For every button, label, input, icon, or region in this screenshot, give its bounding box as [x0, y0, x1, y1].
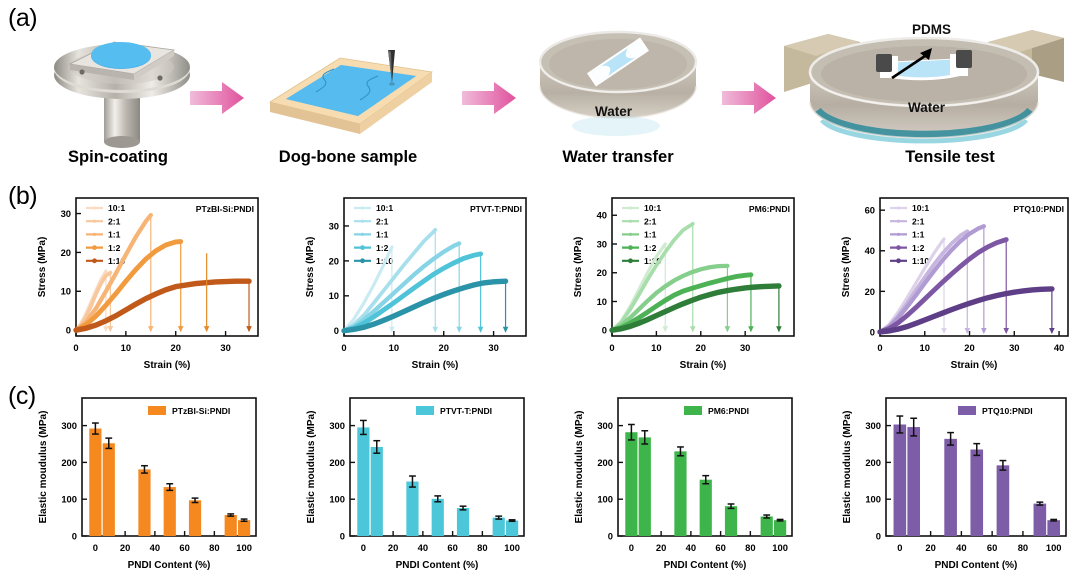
bar [225, 515, 237, 536]
panel-letter-a: (a) [8, 4, 37, 33]
svg-text:40: 40 [686, 542, 696, 553]
bar [493, 518, 505, 536]
bar [138, 469, 150, 536]
svg-text:30: 30 [220, 342, 230, 353]
stress-strain-chart-ptzbi-si: 01020300102030Strain (%)Stress (MPa)PTzB… [34, 190, 264, 378]
svg-text:1:1: 1:1 [912, 230, 925, 240]
svg-text:300: 300 [865, 420, 881, 431]
stress-strain-chart-pm6: 0102030010203040Strain (%)Stress (MPa)PM… [570, 190, 800, 378]
svg-text:30: 30 [329, 220, 339, 231]
inline-label-water-transfer: Water [595, 104, 632, 119]
svg-text:1:1: 1:1 [376, 230, 389, 240]
svg-text:300: 300 [61, 420, 77, 431]
svg-text:PNDI Content (%): PNDI Content (%) [664, 560, 747, 571]
svg-text:20: 20 [925, 542, 935, 553]
svg-text:20: 20 [439, 342, 449, 353]
svg-text:100: 100 [772, 542, 788, 553]
stage-label-water-transfer: Water transfer [518, 148, 718, 167]
petri-dish-icon [528, 14, 708, 152]
svg-text:60: 60 [715, 542, 725, 553]
svg-text:0: 0 [334, 325, 339, 336]
bar [189, 500, 201, 536]
svg-text:1:1: 1:1 [644, 230, 657, 240]
svg-text:0: 0 [897, 542, 902, 553]
svg-text:PM6:PNDI: PM6:PNDI [749, 204, 790, 214]
svg-text:100: 100 [504, 542, 520, 553]
svg-text:Strain (%): Strain (%) [144, 360, 191, 371]
svg-text:100: 100 [1046, 542, 1062, 553]
svg-text:0: 0 [361, 542, 366, 553]
bar [997, 465, 1010, 536]
bar [406, 482, 418, 536]
svg-text:60: 60 [447, 542, 457, 553]
svg-text:10:1: 10:1 [376, 203, 393, 213]
svg-text:20: 20 [61, 247, 71, 258]
svg-text:0: 0 [66, 325, 71, 336]
legend-swatch [416, 406, 434, 415]
svg-text:20: 20 [120, 542, 130, 553]
panel-letter-b: (b) [8, 182, 37, 211]
svg-text:0: 0 [870, 326, 875, 337]
svg-text:40: 40 [1054, 342, 1064, 353]
arrow-right-icon-3 [720, 80, 780, 116]
svg-text:40: 40 [150, 542, 160, 553]
svg-text:PTzBI-Si:PNDI: PTzBI-Si:PNDI [172, 406, 230, 416]
svg-text:0: 0 [609, 342, 614, 353]
bar [103, 443, 115, 536]
stage-label-tensile-test: Tensile test [860, 148, 1040, 167]
svg-text:10:1: 10:1 [912, 203, 929, 213]
stress-strain-chart-ptvt-t: 01020300102030Strain (%)Stress (MPa)PTVT… [302, 190, 532, 378]
svg-text:100: 100 [329, 494, 345, 505]
svg-text:2:1: 2:1 [912, 216, 925, 226]
svg-text:Elastic moudulus (MPa): Elastic moudulus (MPa) [38, 411, 49, 524]
svg-text:20: 20 [597, 267, 607, 278]
svg-text:1:2: 1:2 [376, 243, 389, 253]
stage-label-spin-coating: Spin-coating [18, 148, 218, 167]
plot-frame [76, 198, 258, 336]
svg-text:Stress (MPa): Stress (MPa) [841, 237, 852, 298]
svg-text:2:1: 2:1 [644, 216, 657, 226]
modulus-bar-chart-ptvt-t: 0204060801000100200300PNDI Content (%)El… [302, 390, 532, 578]
svg-text:Stress (MPa): Stress (MPa) [573, 237, 584, 298]
svg-text:200: 200 [597, 457, 613, 468]
svg-text:PNDI Content (%): PNDI Content (%) [128, 560, 211, 571]
svg-text:1:2: 1:2 [108, 243, 121, 253]
svg-text:0: 0 [877, 342, 882, 353]
svg-text:300: 300 [597, 420, 613, 431]
svg-text:300: 300 [329, 420, 345, 431]
bar [970, 450, 983, 536]
panel-letter-c: (c) [8, 382, 36, 411]
svg-text:2:1: 2:1 [108, 216, 121, 226]
svg-text:20: 20 [696, 342, 706, 353]
stress-strain-chart-ptq10: 0102030400204060Strain (%)Stress (MPa)PT… [838, 190, 1074, 378]
chart-svg-c1: 0204060801000100200300PNDI Content (%)El… [302, 390, 532, 578]
svg-text:30: 30 [488, 342, 498, 353]
svg-text:200: 200 [61, 457, 77, 468]
svg-text:10:1: 10:1 [644, 203, 661, 213]
svg-text:Elastic moudulus (MPa): Elastic moudulus (MPa) [842, 411, 853, 524]
bar [1034, 504, 1047, 536]
svg-text:20: 20 [964, 342, 974, 353]
bar [457, 508, 469, 536]
arrow-right-icon-1 [188, 80, 248, 116]
svg-text:30: 30 [1009, 342, 1019, 353]
svg-text:80: 80 [477, 542, 487, 553]
legend-swatch [684, 406, 702, 415]
modulus-bar-chart-ptzbi-si: 0204060801000100200300PNDI Content (%)El… [34, 390, 264, 578]
svg-text:Strain (%): Strain (%) [412, 360, 459, 371]
svg-text:2:1: 2:1 [376, 216, 389, 226]
svg-text:100: 100 [865, 494, 881, 505]
svg-text:20: 20 [329, 255, 339, 266]
bar [700, 480, 712, 536]
dog-bone-sample-icon [254, 28, 444, 148]
svg-text:40: 40 [865, 245, 875, 256]
chart-svg-c2: 0204060801000100200300PNDI Content (%)El… [570, 390, 800, 578]
bar [506, 521, 518, 536]
modulus-bar-chart-pm6: 0204060801000100200300PNDI Content (%)El… [570, 390, 800, 578]
svg-text:10: 10 [651, 342, 661, 353]
svg-text:80: 80 [1018, 542, 1028, 553]
legend-swatch [148, 406, 166, 415]
svg-text:30: 30 [61, 208, 71, 219]
modulus-bar-chart-ptq10: 0204060801000100200300PNDI Content (%)El… [838, 390, 1074, 578]
svg-text:Strain (%): Strain (%) [951, 360, 998, 371]
svg-text:200: 200 [865, 457, 881, 468]
chart-svg-b3: 0102030400204060Strain (%)Stress (MPa)PT… [838, 190, 1074, 378]
svg-text:0: 0 [629, 542, 634, 553]
svg-text:PNDI Content (%): PNDI Content (%) [935, 560, 1018, 571]
svg-text:Stress (MPa): Stress (MPa) [37, 237, 48, 298]
svg-text:PTQ10:PNDI: PTQ10:PNDI [1013, 204, 1064, 214]
legend-swatch [958, 406, 976, 415]
svg-text:PTzBI-Si:PNDI: PTzBI-Si:PNDI [196, 204, 254, 214]
svg-text:60: 60 [987, 542, 997, 553]
svg-text:0: 0 [341, 342, 346, 353]
svg-text:PNDI Content (%): PNDI Content (%) [396, 560, 479, 571]
svg-text:1:1: 1:1 [108, 230, 121, 240]
stage-label-dog-bone-sample: Dog-bone sample [238, 148, 458, 167]
svg-text:40: 40 [418, 542, 428, 553]
bar [164, 487, 176, 536]
svg-text:1:2: 1:2 [644, 243, 657, 253]
svg-text:60: 60 [865, 205, 875, 216]
svg-text:200: 200 [329, 457, 345, 468]
svg-text:0: 0 [608, 530, 613, 541]
svg-text:20: 20 [656, 542, 666, 553]
chart-svg-b0: 01020300102030Strain (%)Stress (MPa)PTzB… [34, 190, 264, 378]
svg-text:0: 0 [340, 530, 345, 541]
svg-text:100: 100 [61, 494, 77, 505]
svg-text:0: 0 [72, 530, 77, 541]
bar [639, 437, 651, 536]
svg-text:10: 10 [597, 296, 607, 307]
chart-svg-c0: 0204060801000100200300PNDI Content (%)El… [34, 390, 264, 578]
svg-text:10: 10 [329, 290, 339, 301]
svg-text:100: 100 [597, 494, 613, 505]
svg-text:40: 40 [956, 542, 966, 553]
svg-text:PM6:PNDI: PM6:PNDI [708, 406, 749, 416]
svg-text:30: 30 [740, 342, 750, 353]
svg-text:0: 0 [602, 325, 607, 336]
svg-text:Strain (%): Strain (%) [680, 360, 727, 371]
bar [89, 429, 101, 536]
bar [357, 427, 369, 536]
bar [238, 520, 250, 536]
bar [774, 520, 786, 536]
svg-text:1:2: 1:2 [912, 243, 925, 253]
bar [432, 499, 444, 536]
svg-text:20: 20 [865, 286, 875, 297]
svg-text:Stress (MPa): Stress (MPa) [305, 237, 316, 298]
svg-text:Elastic moudulus (MPa): Elastic moudulus (MPa) [574, 411, 585, 524]
chart-svg-b2: 0102030010203040Strain (%)Stress (MPa)PM… [570, 190, 800, 378]
chart-svg-b1: 01020300102030Strain (%)Stress (MPa)PTVT… [302, 190, 532, 378]
svg-text:20: 20 [388, 542, 398, 553]
svg-text:60: 60 [179, 542, 189, 553]
bar [907, 427, 920, 536]
svg-text:0: 0 [876, 530, 881, 541]
svg-text:40: 40 [597, 210, 607, 221]
bar [1047, 520, 1060, 536]
svg-text:0: 0 [73, 342, 78, 353]
svg-text:20: 20 [171, 342, 181, 353]
bar [625, 432, 637, 536]
svg-text:30: 30 [597, 238, 607, 249]
svg-text:10: 10 [389, 342, 399, 353]
bar [894, 424, 907, 536]
svg-text:Elastic moudulus (MPa): Elastic moudulus (MPa) [306, 411, 317, 524]
svg-text:80: 80 [209, 542, 219, 553]
inline-label-water-tensile: Water [908, 100, 945, 115]
svg-text:PTVT-T:PNDI: PTVT-T:PNDI [470, 204, 522, 214]
svg-text:0: 0 [93, 542, 98, 553]
svg-text:PTQ10:PNDI: PTQ10:PNDI [982, 406, 1033, 416]
arrow-right-icon-2 [460, 80, 520, 116]
bar [674, 451, 686, 536]
svg-text:100: 100 [236, 542, 252, 553]
bar [944, 439, 957, 536]
svg-text:10: 10 [121, 342, 131, 353]
inline-label-pdms: PDMS [912, 22, 951, 37]
bar [371, 447, 383, 536]
bar [725, 506, 737, 536]
svg-text:PTVT-T:PNDI: PTVT-T:PNDI [440, 406, 492, 416]
svg-text:10:1: 10:1 [108, 203, 125, 213]
svg-text:80: 80 [745, 542, 755, 553]
chart-svg-c3: 0204060801000100200300PNDI Content (%)El… [838, 390, 1074, 578]
svg-text:10: 10 [920, 342, 930, 353]
svg-text:10: 10 [61, 286, 71, 297]
bar [761, 516, 773, 536]
